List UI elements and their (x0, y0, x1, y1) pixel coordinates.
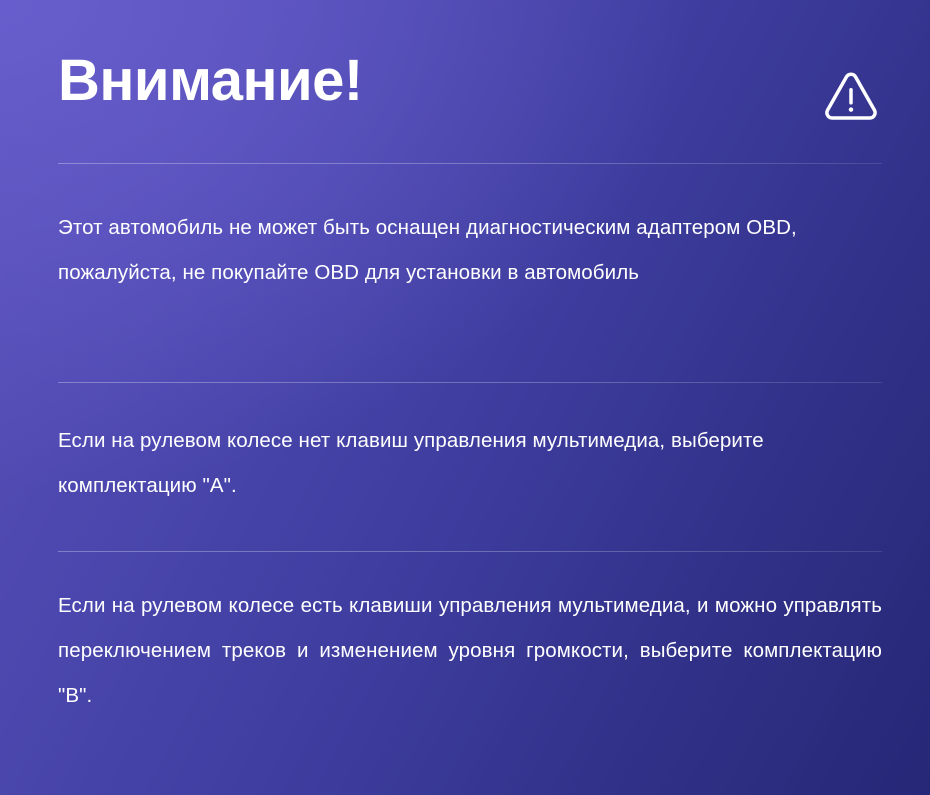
notice-section-text: Если на рулевом колесе нет клавиш управл… (58, 418, 882, 508)
divider-1 (58, 163, 882, 164)
notice-section-text: Этот автомобиль не может быть оснащен ди… (58, 205, 882, 295)
notice-header: Внимание! (58, 52, 882, 144)
notice-section-trim-b: Если на рулевом колесе есть клавиши упра… (58, 583, 882, 718)
notice-section-obd-warning: Этот автомобиль не может быть оснащен ди… (58, 205, 882, 295)
notice-section-text: Если на рулевом колесе есть клавиши упра… (58, 583, 882, 718)
divider-2 (58, 382, 882, 383)
page-title: Внимание! (58, 52, 363, 110)
warning-triangle-icon (820, 66, 882, 128)
notice-screen: Внимание! Этот автомобиль не может быть … (0, 0, 930, 795)
notice-section-trim-a: Если на рулевом колесе нет клавиш управл… (58, 418, 882, 508)
divider-3 (58, 551, 882, 552)
